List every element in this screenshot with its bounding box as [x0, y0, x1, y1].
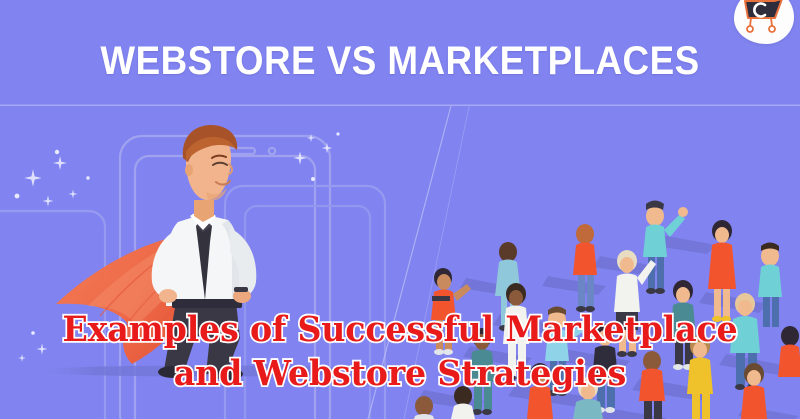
headline-line-1: Examples of Successful Marketplace — [20, 308, 780, 352]
page-title: WEBSTORE VS MARKETPLACES — [32, 38, 768, 84]
headline-line-2: and Webstore Strategies — [20, 352, 780, 396]
crowd-person — [778, 326, 800, 377]
infographic-banner: WEBSTORE VS MARKETPLACES — [0, 0, 800, 419]
shopping-cart-icon — [741, 0, 787, 43]
headline: Examples of Successful Marketplace and W… — [20, 308, 780, 396]
